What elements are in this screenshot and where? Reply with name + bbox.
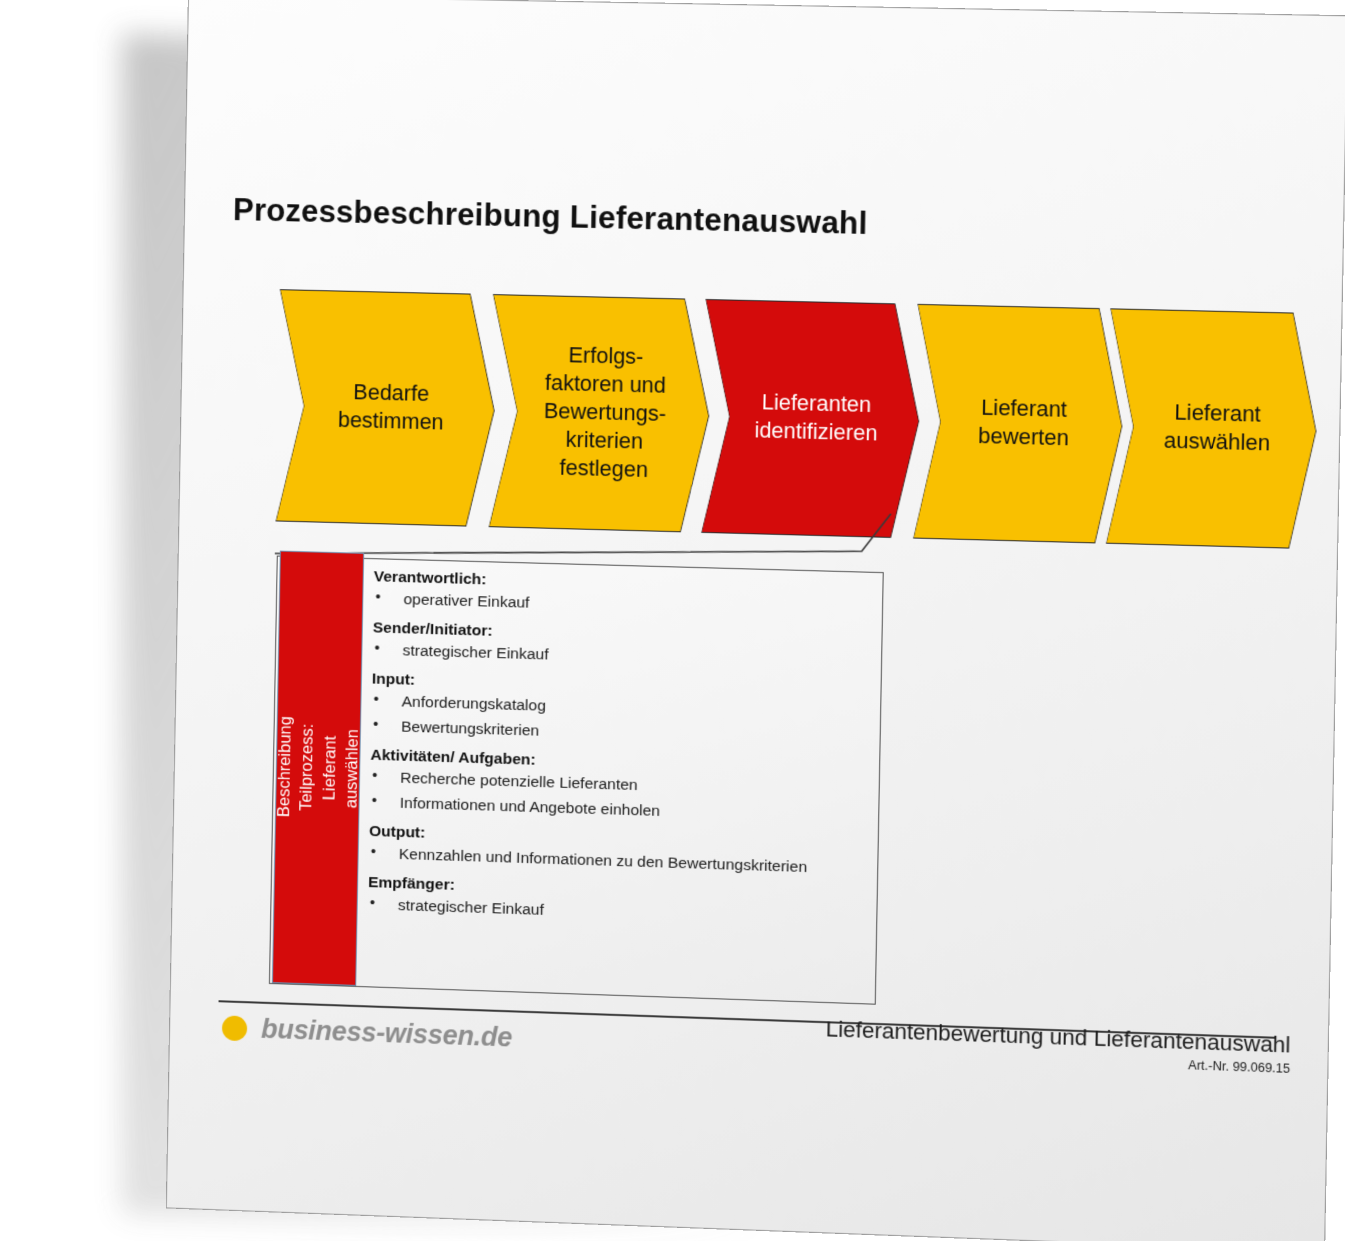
page-title: Prozessbeschreibung Lieferantenauswahl (233, 192, 868, 242)
bullet-icon: • (375, 589, 381, 608)
detail-item-text: Recherche potenzielle Lieferanten (400, 770, 638, 794)
process-step-label: Lieferant bewerten (957, 394, 1080, 454)
process-chevron-chain: Bedarfe bestimmen Erfolgs- faktoren und … (275, 289, 1287, 548)
slide-sheet: Prozessbeschreibung Lieferantenauswahl B… (166, 0, 1345, 1241)
subprocess-detail-content: Verantwortlich: • operativer Einkauf Sen… (366, 567, 872, 997)
subprocess-detail-box: Beschreibung Teilprozess: Lieferant ausw… (269, 556, 884, 1005)
detail-item-text: strategischer Einkauf (398, 897, 544, 919)
logo-text: business-wissen.de (261, 1014, 513, 1054)
detail-item-text: Informationen und Angebote einholen (400, 795, 661, 820)
logo-dot-icon (222, 1015, 247, 1041)
bullet-icon: • (372, 767, 378, 786)
footer-document-info: Lieferantenbewertung und Lieferantenausw… (825, 1017, 1291, 1076)
subprocess-sidebar: Beschreibung Teilprozess: Lieferant ausw… (272, 551, 364, 986)
detail-item-text: Anforderungskatalog (401, 693, 546, 714)
process-step-bedarfe-bestimmen[interactable]: Bedarfe bestimmen (275, 289, 496, 527)
bullet-icon: • (370, 894, 376, 913)
slide-preview: Prozessbeschreibung Lieferantenauswahl B… (0, 0, 1345, 1241)
process-step-label: Bedarfe bestimmen (318, 378, 455, 437)
bullet-icon: • (373, 716, 379, 735)
detail-group-aktivitaeten-aufgaben: Aktivitäten/ Aufgaben: • Recherche poten… (369, 745, 869, 828)
process-step-erfolgsfaktoren-festlegen[interactable]: Erfolgs- faktoren und Bewertungs- kriter… (489, 294, 712, 533)
bullet-icon: • (374, 640, 380, 659)
detail-group-verantwortlich: Verantwortlich: • operativer Einkauf (373, 567, 872, 623)
bullet-icon: • (371, 792, 377, 811)
process-step-lieferant-bewerten[interactable]: Lieferant bewerten (913, 304, 1125, 544)
process-step-label: Erfolgs- faktoren und Bewertungs- kriter… (522, 341, 677, 485)
brand-logo: business-wissen.de (222, 1012, 513, 1053)
detail-item-text: Bewertungskriterien (401, 719, 539, 740)
process-step-label: Lieferant auswählen (1143, 399, 1281, 459)
bullet-icon: • (373, 690, 379, 709)
bullet-icon: • (371, 843, 377, 862)
process-step-lieferant-auswaehlen[interactable]: Lieferant auswählen (1106, 308, 1319, 549)
detail-group-sender-initiator: Sender/Initiator: • strategischer Einkau… (372, 618, 871, 674)
detail-group-input: Input: • Anforderungskatalog • Bewertung… (371, 669, 871, 751)
detail-group-output: Output: • Kennzahlen und Informationen z… (369, 822, 868, 880)
process-step-label: Lieferanten identifizieren (734, 389, 889, 449)
detail-item-text: strategischer Einkauf (402, 642, 548, 663)
subprocess-sidebar-label: Beschreibung Teilprozess: Lieferant ausw… (272, 716, 363, 820)
process-step-lieferanten-identifizieren[interactable]: Lieferanten identifizieren (701, 299, 921, 539)
detail-item-text: operativer Einkauf (403, 591, 529, 612)
detail-group-empfaenger: Empfänger: • strategischer Einkauf (368, 872, 867, 930)
